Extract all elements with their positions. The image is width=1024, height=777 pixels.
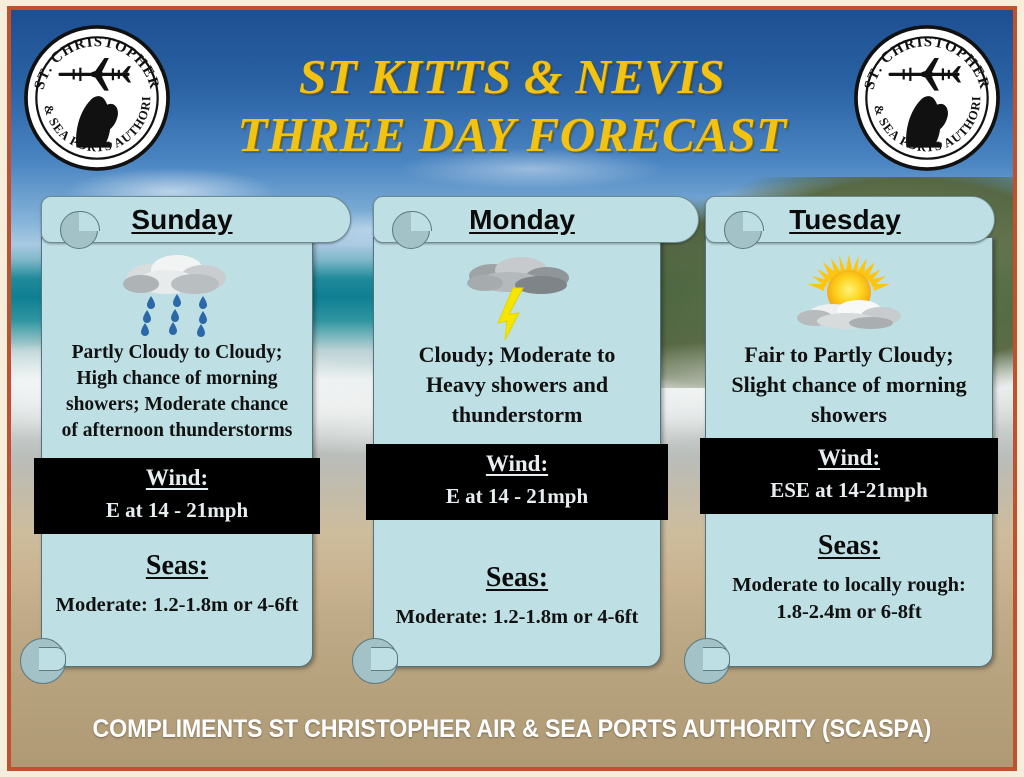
- weather-icon-wrap: [374, 238, 660, 334]
- wind-label: Wind:: [38, 465, 316, 491]
- scroll-curl-icon: [60, 211, 98, 249]
- seas-label: Seas:: [386, 562, 648, 594]
- title-line-1: ST KITTS & NEVIS: [181, 48, 843, 106]
- forecast-card-monday: Monday: [373, 196, 661, 667]
- day-description: Partly Cloudy to Cloudy; High chance of …: [42, 334, 312, 448]
- st-christopher-ports-authority-logo-right: ST. CHRISTOPHER AIR & SEA PORTS AUTHORIT…: [853, 24, 1001, 172]
- card-body: Partly Cloudy to Cloudy; High chance of …: [41, 237, 313, 667]
- wind-section: Wind: E at 14 - 21mph: [366, 444, 668, 520]
- poster-header: ST. CHRISTOPHER AIR & SEA PORTS AUTHORIT…: [11, 10, 1013, 196]
- day-header-tab: Monday: [373, 196, 699, 243]
- weather-icon-wrap: [42, 238, 312, 334]
- st-christopher-ports-authority-logo-left: ST. CHRISTOPHER AIR & SEA PORTS AUTHORIT…: [23, 24, 171, 172]
- sun-behind-cloud-icon: [785, 252, 913, 344]
- seas-section: Seas: Moderate: 1.2-1.8m or 4-6ft: [374, 520, 660, 631]
- seas-label: Seas:: [718, 530, 980, 562]
- forecast-poster: ST. CHRISTOPHER AIR & SEA PORTS AUTHORIT…: [0, 0, 1024, 777]
- footer-credit-text: COMPLIMENTS ST CHRISTOPHER AIR & SEA POR…: [93, 715, 932, 744]
- seas-section: Seas: Moderate to locally rough: 1.8-2.4…: [706, 514, 992, 626]
- forecast-card-sunday: Sunday: [41, 196, 313, 667]
- wind-section: Wind: ESE at 14-21mph: [700, 438, 998, 514]
- scroll-curl-icon: [392, 211, 430, 249]
- title-line-2: THREE DAY FORECAST: [181, 106, 843, 164]
- seas-value: Moderate: 1.2-1.8m or 4-6ft: [54, 592, 300, 619]
- scroll-curl-icon: [724, 211, 762, 249]
- card-body: Fair to Partly Cloudy; Slight chance of …: [705, 237, 993, 667]
- seas-label: Seas:: [54, 550, 300, 582]
- seas-section: Seas: Moderate: 1.2-1.8m or 4-6ft: [42, 534, 312, 619]
- day-description: Fair to Partly Cloudy; Slight chance of …: [706, 334, 992, 434]
- wind-value: E at 14 - 21mph: [370, 484, 664, 509]
- forecast-cards: Sunday: [11, 196, 1013, 711]
- rain-cloud-icon: [111, 252, 243, 344]
- thunderstorm-cloud-icon: [449, 252, 585, 344]
- wind-section: Wind: E at 14 - 21mph: [34, 458, 320, 534]
- wind-value: E at 14 - 21mph: [38, 498, 316, 523]
- page-title: ST KITTS & NEVIS THREE DAY FORECAST: [181, 48, 843, 164]
- poster-frame: ST. CHRISTOPHER AIR & SEA PORTS AUTHORIT…: [7, 6, 1017, 771]
- seas-value: Moderate: 1.2-1.8m or 4-6ft: [386, 604, 648, 631]
- wind-label: Wind:: [704, 445, 994, 471]
- day-header-tab: Tuesday: [705, 196, 995, 243]
- poster-footer: COMPLIMENTS ST CHRISTOPHER AIR & SEA POR…: [11, 691, 1013, 767]
- scroll-curl-icon: [20, 638, 66, 684]
- weather-icon-wrap: [706, 238, 992, 334]
- card-body: Cloudy; Moderate to Heavy showers and th…: [373, 237, 661, 667]
- day-description: Cloudy; Moderate to Heavy showers and th…: [374, 334, 660, 434]
- day-header-tab: Sunday: [41, 196, 351, 243]
- scroll-curl-icon: [684, 638, 730, 684]
- scroll-curl-icon: [352, 638, 398, 684]
- seas-value: Moderate to locally rough: 1.8-2.4m or 6…: [718, 572, 980, 626]
- wind-value: ESE at 14-21mph: [704, 478, 994, 503]
- wind-label: Wind:: [370, 451, 664, 477]
- forecast-card-tuesday: Tuesday: [705, 196, 993, 667]
